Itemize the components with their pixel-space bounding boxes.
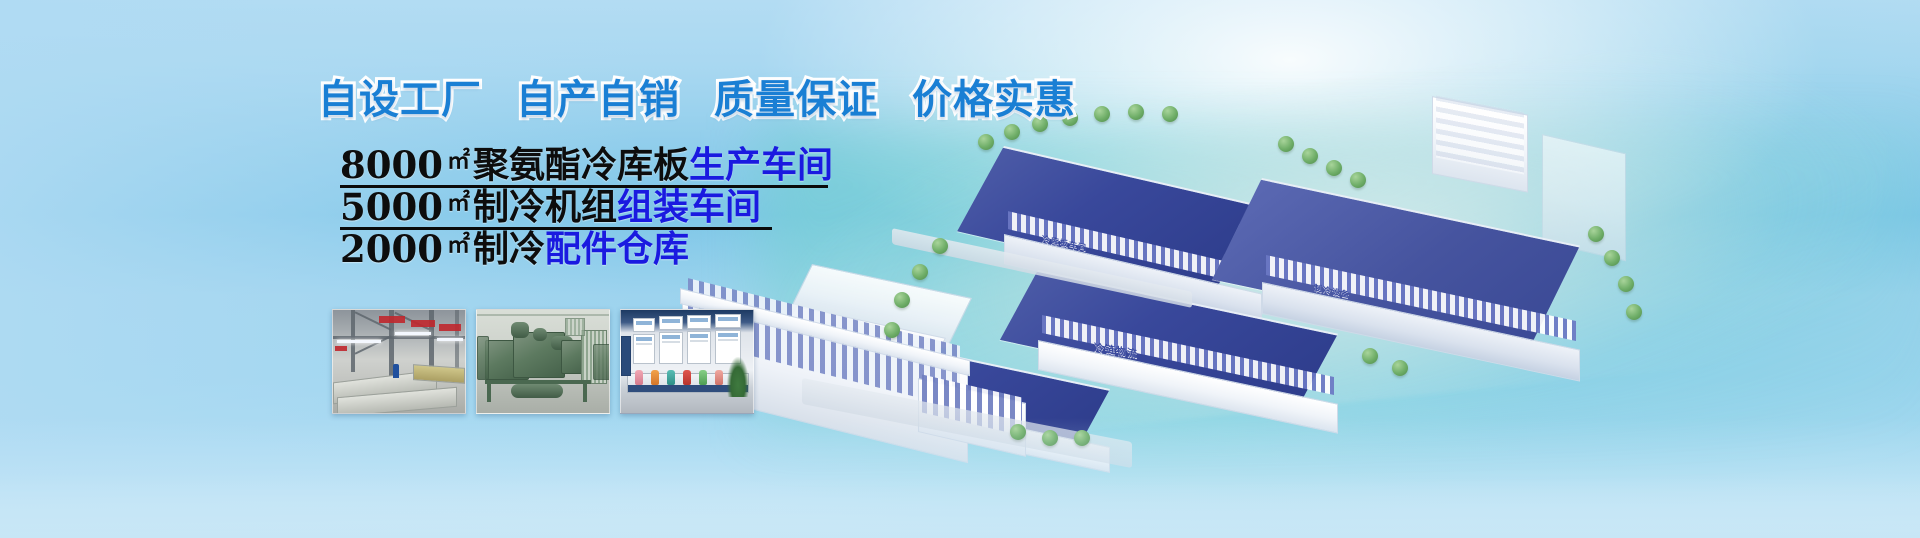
background-bottom-glow: [0, 418, 1920, 538]
spec-line-1: 8000 ㎡ 聚氨酯冷库板 生产车间: [340, 143, 828, 185]
photo-exhibition-display: [620, 309, 754, 414]
tree: [978, 134, 994, 150]
cylinder-green: [699, 370, 707, 385]
facility-spec-list: 8000 ㎡ 聚氨酯冷库板 生产车间 5000 ㎡ 制冷机组 组装车间 2000…: [340, 143, 960, 269]
spec-line-3-black-text: 制冷: [473, 229, 545, 269]
tree: [884, 322, 900, 338]
spec-line-3: 2000 ㎡ 制冷 配件仓库: [340, 227, 708, 269]
spec-line-3-number: 2000: [340, 229, 443, 269]
headline-item-1: 自设工厂: [318, 67, 482, 125]
headline-slogans: 自设工厂 自产自销 质量保证 价格实惠: [318, 70, 1218, 122]
tree: [1278, 136, 1294, 152]
photo-strip: [332, 309, 754, 414]
tree: [1302, 148, 1318, 164]
tree: [1004, 124, 1020, 140]
photo-compressor-units: [476, 309, 610, 414]
spec-line-2-number: 5000: [340, 187, 443, 227]
potted-plant-icon: [727, 357, 749, 397]
spec-line-2-black-text: 制冷机组: [473, 187, 617, 227]
tree: [1392, 360, 1408, 376]
tree: [894, 292, 910, 308]
spec-line-2: 5000 ㎡ 制冷机组 组装车间: [340, 185, 772, 227]
spec-line-1-unit: ㎡: [447, 141, 469, 181]
photo-panel-workshop: [332, 309, 466, 414]
cylinder-pink: [635, 370, 643, 385]
headline-item-4: 价格实惠: [912, 67, 1076, 125]
tree: [1618, 276, 1634, 292]
tree: [1326, 160, 1342, 176]
cylinder-rose: [715, 370, 723, 385]
cylinder-teal: [667, 370, 675, 385]
headline-item-2: 自产自销: [516, 67, 680, 125]
spec-line-1-black-text: 聚氨酯冷库板: [473, 145, 689, 185]
spec-line-1-number: 8000: [340, 145, 443, 185]
tree: [1350, 172, 1366, 188]
tree: [1604, 250, 1620, 266]
spec-line-1-blue-text: 生产车间: [689, 145, 833, 185]
spec-line-3-unit: ㎡: [447, 225, 469, 265]
promo-banner: 冷库板车间 制冷设备 冷链物流 自设工厂 自产自销 质量保证 价格实惠 8000…: [0, 0, 1920, 538]
cylinder-red: [683, 370, 691, 385]
cylinder-orange: [651, 370, 659, 385]
headline-item-3: 质量保证: [714, 67, 878, 125]
spec-line-2-blue-text: 组装车间: [617, 187, 761, 227]
spec-line-3-blue-text: 配件仓库: [545, 229, 689, 269]
tree: [1362, 348, 1378, 364]
spec-line-2-unit: ㎡: [447, 183, 469, 223]
tree: [1588, 226, 1604, 242]
tree: [1626, 304, 1642, 320]
